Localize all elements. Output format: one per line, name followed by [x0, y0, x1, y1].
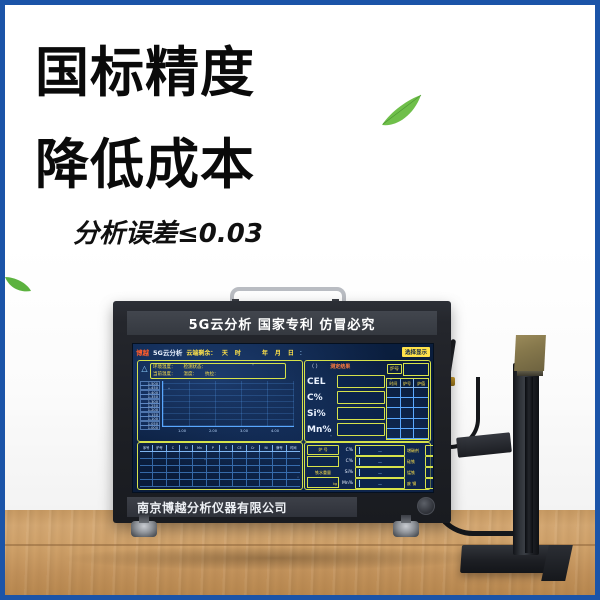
- foot-stem-right: [401, 515, 411, 523]
- cloud-remaining-hours: 时: [233, 348, 242, 357]
- records-cell: [260, 466, 273, 472]
- element-range-input[interactable]: —: [355, 478, 405, 489]
- result-row: Si%: [307, 407, 385, 420]
- records-column-header: 时间: [287, 445, 300, 451]
- records-table-header: 序号炉号CSiMnPSCECrNi牌号时间: [140, 445, 300, 452]
- element-adjust-row: Si%—锰铁kg: [341, 467, 434, 478]
- records-cell: [140, 480, 153, 486]
- element-range-separator: —: [378, 481, 382, 486]
- records-cell: [287, 452, 300, 458]
- records-cell: [260, 452, 273, 458]
- records-cell: [193, 480, 206, 486]
- records-cell: [233, 473, 246, 479]
- records-cell: [207, 480, 220, 486]
- additive-amount-input[interactable]: kg: [425, 467, 434, 478]
- field-tensile: 抗拉：: [205, 372, 219, 379]
- furnace-number-input[interactable]: [403, 363, 429, 376]
- chart-x-tick: 2.00: [209, 429, 217, 433]
- records-cell: [180, 452, 193, 458]
- result-value-box[interactable]: [337, 407, 385, 420]
- history-column-header: 时间: [387, 379, 401, 388]
- additive-label: 锰铁: [407, 470, 423, 476]
- history-cell: [414, 429, 428, 438]
- history-cell: [414, 398, 428, 407]
- device-top-banner: 5G云分析 国家专利 仿冒必究: [127, 311, 437, 335]
- leveling-foot-left: [131, 521, 157, 537]
- element-adjust-row: C%—硅铁kg: [341, 456, 434, 467]
- table-row[interactable]: [140, 466, 300, 473]
- records-cell: [180, 466, 193, 472]
- poster-root: 国标精度 降低成本 分析误差≤0.03 5G云分析 国家专利 仿冒必究: [0, 0, 600, 600]
- records-cell: [220, 452, 233, 458]
- field-temp: 温度：: [184, 372, 198, 379]
- additive-amount-input[interactable]: kg: [425, 445, 434, 456]
- leaf-icon: [379, 93, 423, 133]
- poster-card: 国标精度 降低成本 分析误差≤0.03 5G云分析 国家专利 仿冒必究: [5, 5, 595, 595]
- history-cell: [401, 398, 415, 407]
- records-cell: [153, 480, 166, 486]
- additive-label: 硅铁: [407, 459, 423, 465]
- records-table: 序号炉号CSiMnPSCECrNi牌号时间: [140, 445, 300, 487]
- chart-x-tick: 4.00: [271, 429, 279, 433]
- brand-logo-text: 博越: [136, 347, 149, 357]
- result-element-label: C%: [307, 393, 335, 403]
- history-cell: [387, 429, 401, 438]
- element-range-input[interactable]: —: [355, 445, 405, 456]
- result-row: Mn%: [307, 423, 385, 436]
- result-row: CEL: [307, 375, 385, 388]
- records-cell: [207, 452, 220, 458]
- element-range-caret: [359, 447, 360, 454]
- records-cell: [193, 473, 206, 479]
- molten-iron-weight-label: 铁水重量: [307, 470, 339, 476]
- additive-label: 增碳剂: [407, 448, 423, 454]
- records-cell: [207, 466, 220, 472]
- waveform-icon: △: [140, 364, 149, 373]
- date-day: 日: [286, 348, 295, 357]
- records-cell: [287, 480, 300, 486]
- history-cell: [401, 419, 415, 428]
- records-column-header: 序号: [140, 445, 153, 451]
- records-cell: [167, 466, 180, 472]
- element-range-separator: —: [378, 448, 382, 453]
- cloud-remaining-label: 云端剩余：: [186, 348, 216, 357]
- result-element-label: CEL: [307, 377, 335, 387]
- leaf-icon-secondary: [5, 273, 31, 297]
- records-cell: [193, 452, 206, 458]
- leveling-foot-right: [393, 521, 419, 537]
- history-cell: [401, 429, 415, 438]
- records-column-header: Si: [180, 445, 193, 451]
- records-cell: [140, 459, 153, 465]
- result-value-box[interactable]: [337, 375, 385, 388]
- history-cell: [414, 408, 428, 417]
- history-column-header: 炉号: [401, 379, 415, 388]
- records-cell: [260, 480, 273, 486]
- records-column-header: Cr: [247, 445, 260, 451]
- additive-amount-input[interactable]: kg: [425, 456, 434, 467]
- element-range-caret: [359, 469, 360, 476]
- history-table[interactable]: 时间炉号炉值: [386, 378, 429, 440]
- records-column-header: CE: [233, 445, 246, 451]
- furnace-group: 炉 号 铁水重量 kg: [307, 445, 339, 488]
- date-month: 月: [273, 348, 282, 357]
- records-cell: [273, 480, 286, 486]
- history-row[interactable]: [387, 429, 428, 439]
- records-cell: [180, 459, 193, 465]
- records-cell: [153, 452, 166, 458]
- foot-stem-left: [139, 515, 149, 523]
- cooling-curve-plot: [162, 381, 294, 427]
- element-label: C%: [341, 459, 353, 464]
- brand-subtitle-text: 5G云分析: [153, 347, 182, 357]
- furnace-number-label: 炉号: [387, 364, 402, 374]
- results-header: （ ） 测定结果: [309, 363, 350, 370]
- stand-column-slot: [525, 377, 533, 553]
- records-cell: [193, 459, 206, 465]
- molten-iron-weight-unit: kg: [333, 482, 337, 486]
- element-label: Mn%: [341, 481, 353, 486]
- records-panel[interactable]: 序号炉号CSiMnPSCECrNi牌号时间: [137, 442, 303, 490]
- result-element-label: Mn%: [307, 425, 335, 435]
- records-cell: [287, 473, 300, 479]
- headline-line-2: 降低成本: [35, 135, 255, 195]
- chart-x-tick: 3.00: [240, 429, 248, 433]
- records-cell: [233, 459, 246, 465]
- element-adjust-row: Mn%—废 钢kg: [341, 478, 434, 489]
- records-cell: [220, 459, 233, 465]
- element-label: Si%: [341, 470, 353, 475]
- records-cell: [167, 459, 180, 465]
- records-cell: [233, 452, 246, 458]
- history-cell: [414, 419, 428, 428]
- chart-x-tick: 1.00: [178, 429, 186, 433]
- records-cell: [207, 459, 220, 465]
- records-cell: [247, 473, 260, 479]
- records-cell: [193, 466, 206, 472]
- element-range-input[interactable]: —: [355, 456, 405, 467]
- history-cell: [387, 398, 401, 407]
- result-value-box[interactable]: [337, 391, 385, 404]
- records-cell: [287, 466, 300, 472]
- records-cell: [140, 466, 153, 472]
- table-row[interactable]: [140, 473, 300, 480]
- select-display-button[interactable]: 选择显示: [402, 347, 430, 357]
- result-row: C%: [307, 391, 385, 404]
- probe-head: [514, 335, 546, 371]
- headline-line-1: 国标精度: [35, 41, 255, 104]
- records-cell: [167, 480, 180, 486]
- screen-status-bar: 博越 5G云分析 云端剩余： 天 时 年 月 日 ： 选择显示: [136, 346, 430, 358]
- records-cell: [247, 466, 260, 472]
- records-column-header: 炉号: [153, 445, 166, 451]
- records-cell: [180, 480, 193, 486]
- results-paren: （ ）: [309, 364, 321, 370]
- records-column-header: Ni: [260, 445, 273, 451]
- records-cell: [140, 452, 153, 458]
- records-column-header: Mn: [193, 445, 206, 451]
- records-cell: [247, 459, 260, 465]
- page-title: 国标精度 降低成本: [35, 43, 255, 195]
- history-cell: [414, 388, 428, 397]
- records-cell: [153, 473, 166, 479]
- records-cell: [287, 459, 300, 465]
- history-cell: [387, 408, 401, 417]
- history-cell: [401, 388, 415, 397]
- history-row[interactable]: [387, 408, 428, 418]
- charge-calculator-panel: 炉 号 铁水重量 kg C%—增碳剂kgC%—硅铁kgSi%—锰铁kgMn%—废…: [304, 442, 431, 490]
- additive-label: 废 钢: [407, 481, 423, 487]
- additive-amount-input[interactable]: kg: [425, 478, 434, 489]
- chart-panel: △ 环境温度： 检测状态： 当前温度： 温度： 抗拉： 1.5001: [137, 360, 303, 442]
- date-year: 年: [260, 348, 269, 357]
- records-cell: [220, 480, 233, 486]
- records-cell: [207, 473, 220, 479]
- result-value-box[interactable]: [337, 423, 385, 436]
- molten-iron-weight-input[interactable]: kg: [307, 477, 339, 488]
- chart-y-tick: 1.000: [140, 425, 160, 430]
- history-cell: [387, 388, 401, 397]
- chart-status-fields: 环境温度： 检测状态： 当前温度： 温度： 抗拉：: [150, 363, 286, 379]
- element-adjust-row: C%—增碳剂kg: [341, 445, 434, 456]
- records-cell: [247, 452, 260, 458]
- element-label: C%: [341, 448, 353, 453]
- element-range-separator: —: [378, 470, 382, 475]
- date-colon: ：: [299, 348, 305, 357]
- records-cell: [273, 473, 286, 479]
- table-row[interactable]: [140, 452, 300, 459]
- analyzer-device: 5G云分析 国家专利 仿冒必究 博越 5G云分析 云端剩余： 天 时 年 月 日…: [113, 301, 451, 523]
- records-cell: [273, 452, 286, 458]
- result-element-label: Si%: [307, 409, 335, 419]
- subtitle-accuracy: 分析误差≤0.03: [73, 213, 263, 250]
- element-range-caret: [359, 480, 360, 487]
- history-row[interactable]: [387, 398, 428, 408]
- records-cell: [233, 480, 246, 486]
- history-row[interactable]: [387, 419, 428, 429]
- history-cell: [387, 419, 401, 428]
- results-panel: （ ） 测定结果 炉号 CELC%Si%Mn% 时间炉号炉值: [304, 360, 431, 442]
- history-cell: [401, 408, 415, 417]
- records-column-header: P: [207, 445, 220, 451]
- records-cell: [273, 466, 286, 472]
- furnace-group-input[interactable]: [307, 456, 339, 467]
- records-cell: [167, 473, 180, 479]
- history-table-header: 时间炉号炉值: [387, 379, 428, 388]
- history-row[interactable]: [387, 388, 428, 398]
- records-cell: [153, 466, 166, 472]
- element-range-separator: —: [378, 459, 382, 464]
- lcd-screen[interactable]: 博越 5G云分析 云端剩余： 天 时 年 月 日 ： 选择显示 △: [132, 343, 434, 493]
- history-column-header: 炉值: [414, 379, 428, 388]
- device-shadow: [60, 546, 490, 570]
- records-cell: [167, 452, 180, 458]
- cloud-remaining-days: 天: [220, 348, 229, 357]
- table-row[interactable]: [140, 480, 300, 487]
- records-cell: [260, 459, 273, 465]
- records-cell: [220, 473, 233, 479]
- records-cell: [273, 459, 286, 465]
- element-range-caret: [359, 458, 360, 465]
- records-cell: [260, 473, 273, 479]
- records-column-header: S: [220, 445, 233, 451]
- results-title: 测定结果: [330, 364, 350, 370]
- records-cell: [180, 473, 193, 479]
- records-cell: [233, 466, 246, 472]
- element-range-input[interactable]: —: [355, 467, 405, 478]
- company-name-plate: 南京博越分析仪器有限公司: [127, 497, 357, 517]
- records-cell: [153, 459, 166, 465]
- records-cell: [247, 480, 260, 486]
- records-cell: [140, 473, 153, 479]
- records-column-header: C: [167, 445, 180, 451]
- field-current-temp: 当前温度：: [153, 372, 176, 379]
- records-column-header: 牌号: [273, 445, 286, 451]
- furnace-group-label: 炉 号: [307, 445, 339, 455]
- table-row[interactable]: [140, 459, 300, 466]
- records-cell: [220, 466, 233, 472]
- power-knob-icon[interactable]: [417, 497, 435, 515]
